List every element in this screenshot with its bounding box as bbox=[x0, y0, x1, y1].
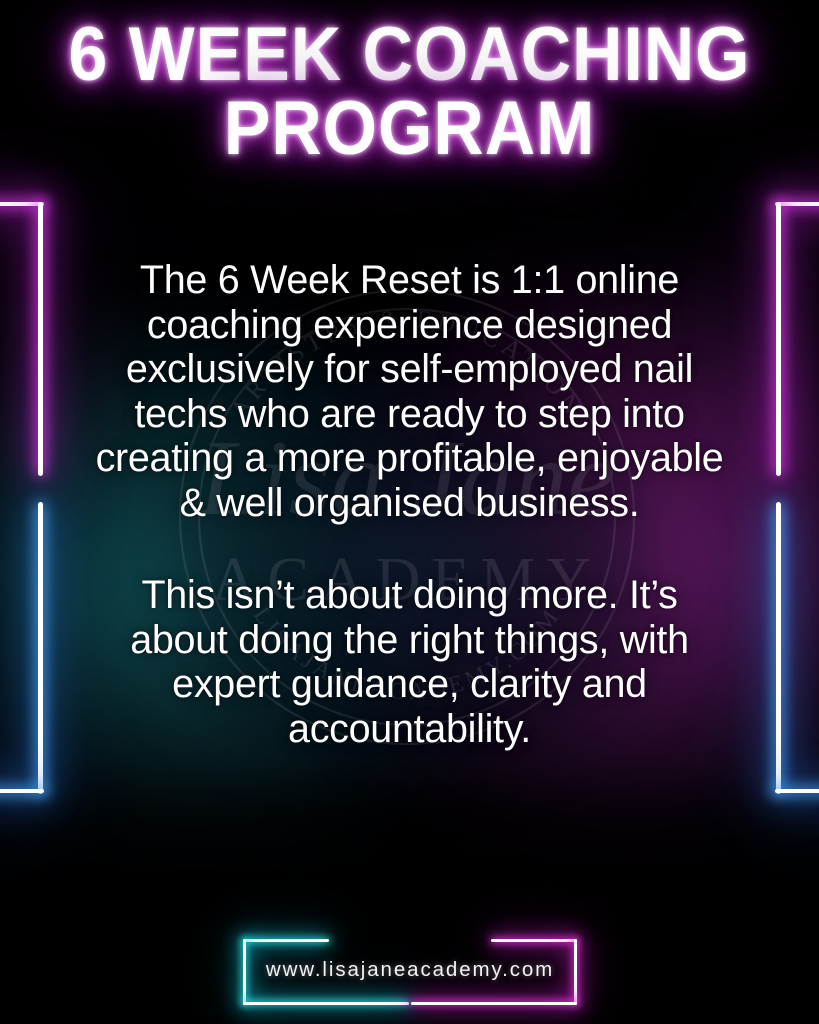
website-url-text[interactable]: www.lisajaneacademy.com bbox=[236, 958, 584, 982]
title-line-1: 6 WEEK COACHING bbox=[33, 18, 786, 92]
website-url-badge[interactable]: www.lisajaneacademy.com bbox=[236, 932, 584, 1012]
body-paragraph-1: The 6 Week Reset is 1:1 online coaching … bbox=[92, 258, 727, 525]
title-line-2: PROGRAM bbox=[33, 92, 786, 166]
poster-canvas: ARTISTRY & EDUCATION Lisa Jane ACADEMY L… bbox=[0, 0, 819, 1024]
paragraph-spacer bbox=[92, 525, 727, 573]
poster-title: 6 WEEK COACHING PROGRAM bbox=[0, 18, 819, 167]
poster-body: The 6 Week Reset is 1:1 online coaching … bbox=[92, 258, 727, 751]
body-paragraph-2: This isn’t about doing more. It’s about … bbox=[92, 573, 727, 751]
